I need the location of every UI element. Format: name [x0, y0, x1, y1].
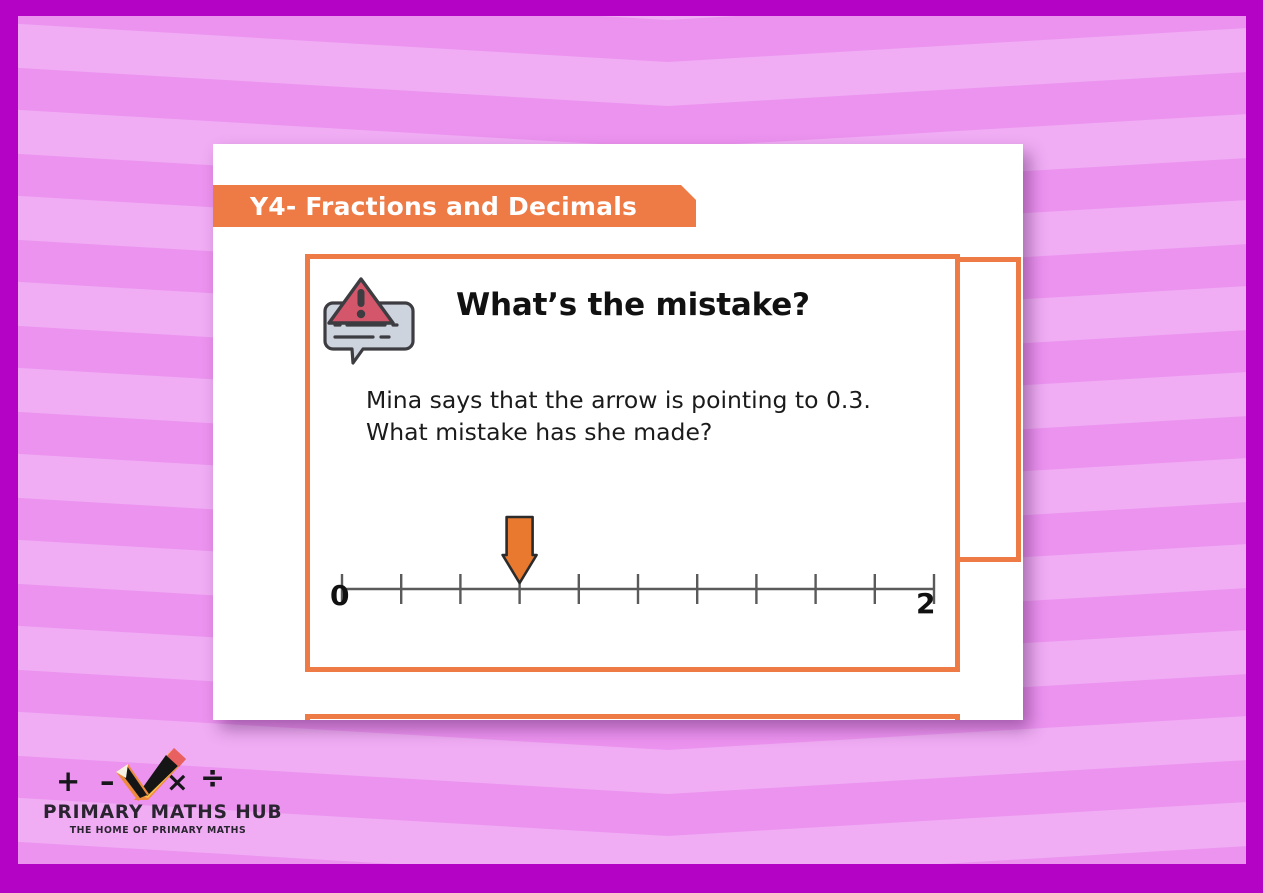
number-line-svg — [330, 499, 950, 639]
screenshot-root: Y4- Fractions and Decimals — [0, 0, 1263, 893]
background-box-lower — [305, 714, 960, 720]
slide-title-banner: Y4- Fractions and Decimals — [213, 185, 696, 227]
plus-icon: + — [56, 767, 80, 796]
question-body: Mina says that the arrow is pointing to … — [366, 384, 956, 448]
question-heading: What’s the mistake? — [456, 287, 810, 323]
slide-card: Y4- Fractions and Decimals — [213, 144, 1023, 720]
logo-brand-name: PRIMARY MATHS HUB — [43, 802, 273, 823]
primary-maths-hub-logo: + – × ÷ PRIMARY MATHS HUB THE HOME OF PR… — [43, 752, 273, 842]
question-panel: What’s the mistake? Mina says that the a… — [305, 254, 960, 672]
number-line-diagram: 0 2 — [330, 499, 950, 639]
number-line-start-label: 0 — [330, 579, 349, 612]
divide-icon: ÷ — [200, 764, 225, 794]
logo-operator-row: + – × ÷ — [48, 752, 268, 804]
slide-title-text: Y4- Fractions and Decimals — [213, 192, 637, 221]
pencil-tick-icon — [108, 746, 188, 802]
chevron-stripe — [18, 62, 1246, 148]
question-line-2: What mistake has she made? — [366, 416, 956, 448]
number-line-pointer-arrow — [503, 517, 537, 583]
question-line-1: Mina says that the arrow is pointing to … — [366, 384, 956, 416]
number-line-end-label: 2 — [916, 587, 935, 620]
logo-tagline: THE HOME OF PRIMARY MATHS — [43, 825, 273, 836]
chevron-stripe — [18, 16, 1246, 62]
warning-speech-bubble-icon — [323, 275, 415, 365]
